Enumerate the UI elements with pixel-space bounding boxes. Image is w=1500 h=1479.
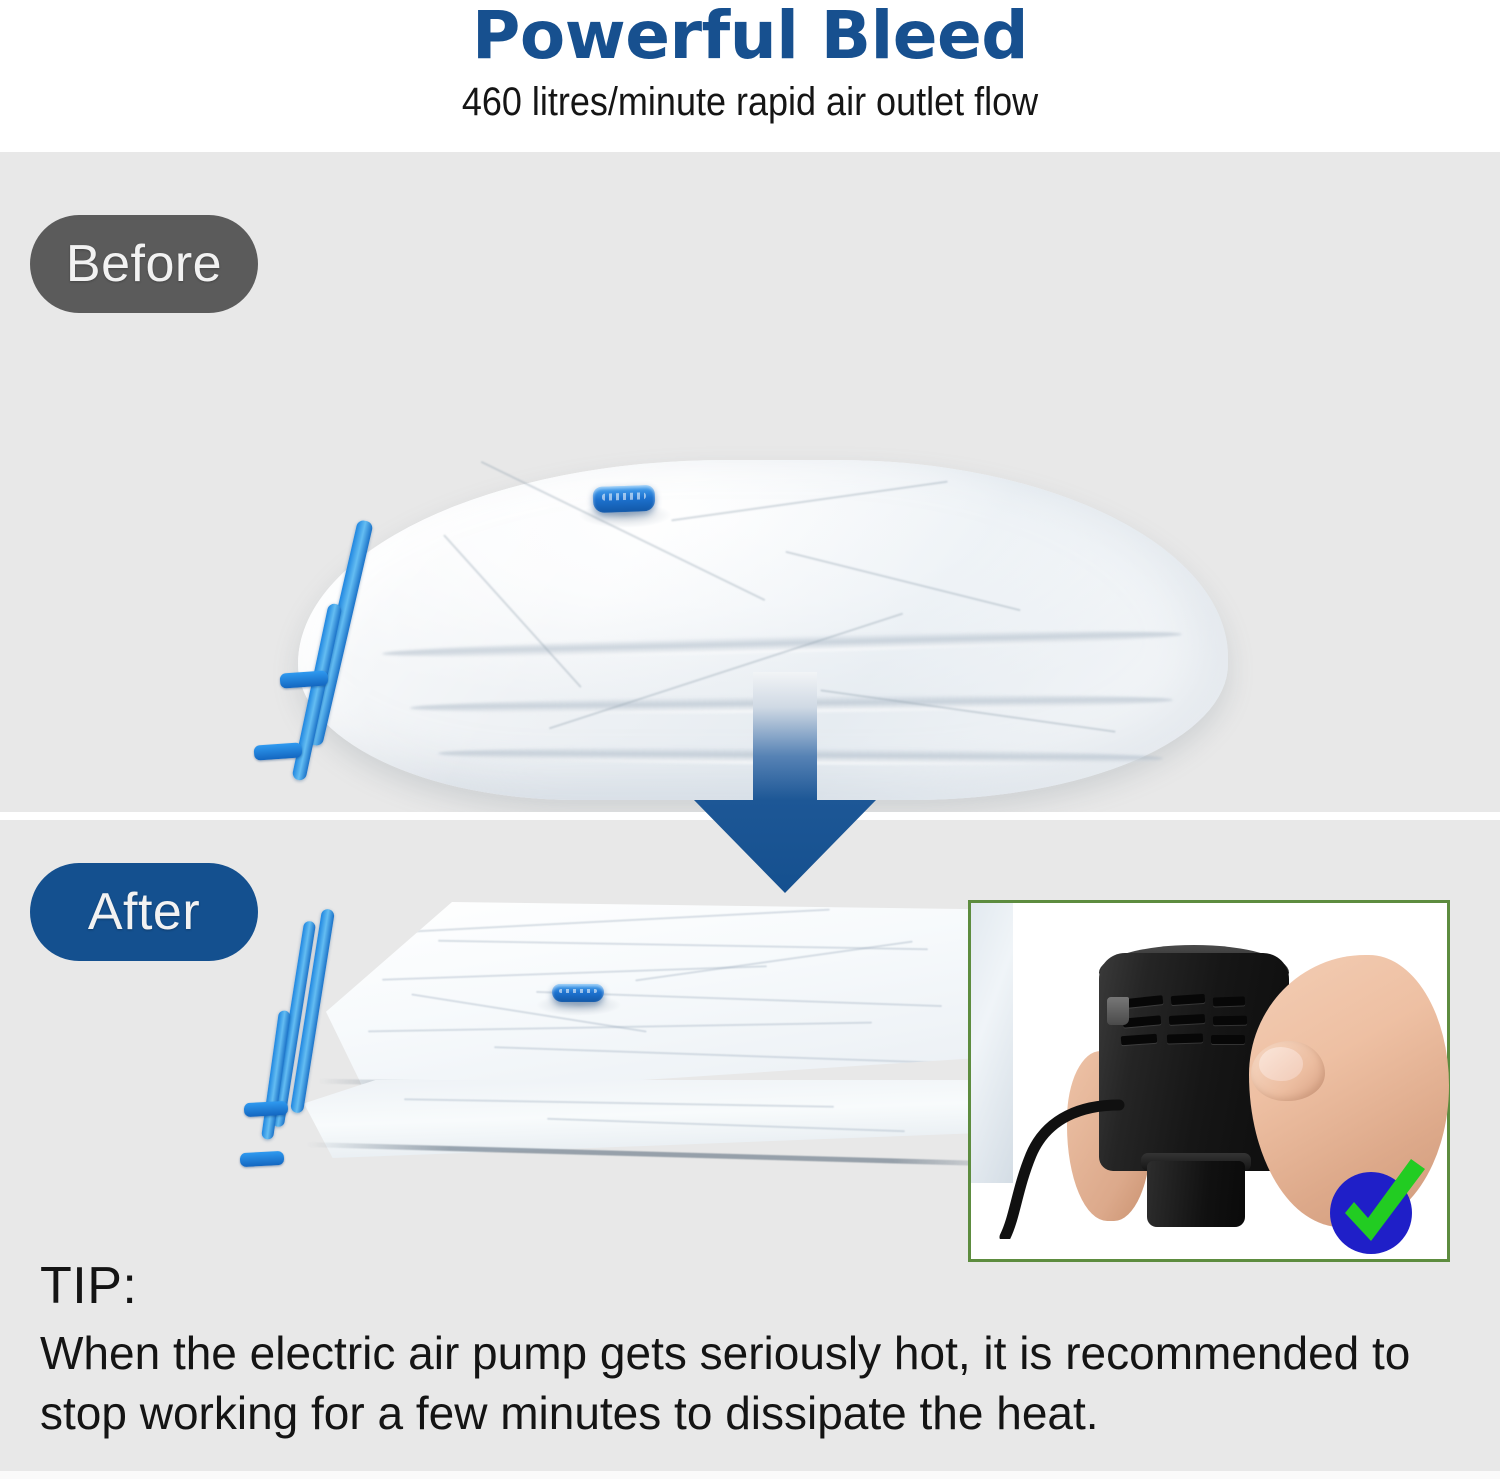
plastic-wrinkle (494, 1046, 942, 1064)
plastic-wrinkle (396, 909, 830, 934)
check-badge (1323, 1155, 1429, 1259)
down-arrow (690, 672, 880, 894)
tip-body: When the electric air pump gets seriousl… (40, 1324, 1470, 1444)
page-subtitle: 460 litres/minute rapid air outlet flow (75, 80, 1425, 125)
plastic-wrinkle (548, 1118, 906, 1132)
power-cord (987, 1099, 1127, 1239)
plastic-wrinkle (382, 965, 767, 980)
comforter-fold (382, 626, 1182, 662)
vent-slot (1211, 1035, 1245, 1044)
plastic-crease (443, 534, 581, 687)
after-badge-label: After (88, 882, 200, 942)
plastic-crease (671, 481, 948, 522)
vent-slot (1169, 1014, 1205, 1025)
header: Powerful Bleed 460 litres/minute rapid a… (0, 0, 1500, 152)
page-title: Powerful Bleed (0, 2, 1500, 71)
pump-nozzle (1147, 1161, 1245, 1227)
before-badge: Before (30, 215, 258, 313)
pump-inset-photo (968, 900, 1450, 1262)
vent-slot (1167, 1033, 1203, 1043)
air-valve (593, 485, 656, 513)
zip-slider-tab (244, 1101, 289, 1117)
after-badge: After (30, 863, 258, 961)
after-bag-illustration (240, 890, 1040, 1210)
plastic-crease (785, 551, 1020, 611)
vent-slot (1213, 1016, 1247, 1026)
before-badge-label: Before (66, 234, 222, 294)
tip-block: TIP: When the electric air pump gets ser… (40, 1258, 1470, 1444)
product-feature-card: Powerful Bleed 460 litres/minute rapid a… (0, 0, 1500, 1479)
tip-label: TIP: (40, 1258, 1470, 1314)
pump-power-switch[interactable] (1107, 997, 1129, 1025)
air-valve (552, 984, 604, 1002)
zip-slider-tab (240, 1151, 285, 1167)
thumb-nail (1259, 1047, 1303, 1081)
vent-slot (1213, 996, 1245, 1006)
plastic-crease (481, 461, 766, 601)
compressed-vacuum-bag-top (326, 902, 1026, 1098)
bottom-strip (0, 1471, 1500, 1479)
plastic-wrinkle (404, 1098, 834, 1107)
